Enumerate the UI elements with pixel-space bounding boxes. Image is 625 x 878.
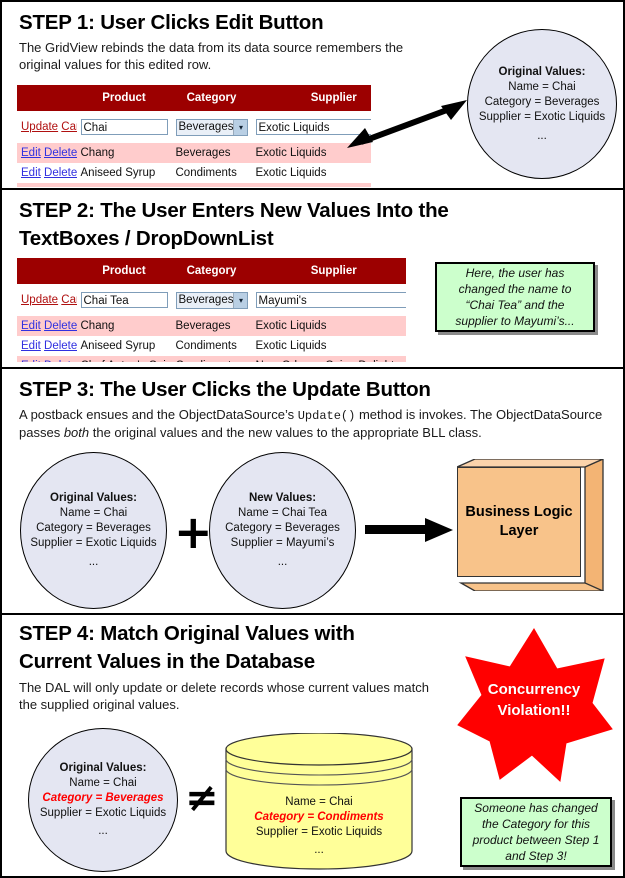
plus-symbol: + bbox=[174, 509, 213, 555]
original-values-line-3: Supplier = Exotic Liquids bbox=[479, 110, 605, 125]
original-values-line-2: Category = Beverages bbox=[479, 95, 605, 110]
step-2-panel: STEP 2: The User Enters New Values Into … bbox=[2, 190, 623, 369]
star-label: Concurrency Violation!! bbox=[454, 679, 614, 721]
row-commands[interactable]: Edit Delete bbox=[17, 163, 77, 183]
product-textbox[interactable]: Chai bbox=[81, 119, 168, 135]
diagram-page: STEP 1: User Clicks Edit Button The Grid… bbox=[0, 0, 625, 878]
step-3-new-values-ellipse: New Values: Name = Chai Tea Category = B… bbox=[209, 452, 356, 609]
update-link[interactable]: Update bbox=[21, 294, 58, 306]
database-values-text: Name = Chai Category = Condiments Suppli… bbox=[224, 795, 414, 858]
table-row[interactable]: Edit Delete Aniseed Syrup Condiments Exo… bbox=[17, 336, 407, 356]
database-cylinder: Name = Chai Category = Condiments Suppli… bbox=[224, 733, 414, 875]
step-1-gridview[interactable]: Product Category Supplier Update Cancel … bbox=[16, 84, 371, 187]
delete-link[interactable]: Delete bbox=[44, 147, 76, 159]
new-values-header: New Values: bbox=[225, 491, 340, 506]
row-supplier: New Orleans Cajun Delights bbox=[252, 356, 407, 362]
concurrency-violation-star: Concurrency Violation!! bbox=[454, 625, 614, 785]
step-3-panel: STEP 3: The User Clicks the Update Butto… bbox=[2, 369, 623, 615]
gv-header-category: Category bbox=[172, 258, 252, 285]
original-values-header: Original Values: bbox=[30, 491, 156, 506]
row-supplier: Exotic Liquids bbox=[252, 336, 407, 356]
original-values-line-2: Category = Beverages bbox=[30, 521, 156, 536]
row-commands[interactable]: Edit Delete bbox=[17, 336, 77, 356]
gridview-header-row: Product Category Supplier bbox=[17, 258, 407, 285]
step-3-title: STEP 3: The User Clicks the Update Butto… bbox=[19, 377, 431, 402]
edit-row-commands[interactable]: Update Cancel bbox=[17, 111, 77, 143]
original-values-text: Original Values: Name = Chai Category = … bbox=[30, 491, 156, 570]
step-2-title-line-1: STEP 2: The User Enters New Values Into … bbox=[19, 198, 449, 223]
bll-label: Business Logic Layer bbox=[457, 467, 581, 577]
step-3-original-values-ellipse: Original Values: Name = Chai Category = … bbox=[20, 452, 167, 609]
original-values-line-4: ... bbox=[40, 824, 166, 839]
edit-row-commands[interactable]: Update Cancel bbox=[17, 284, 77, 316]
step-4-description: The DAL will only update or delete recor… bbox=[19, 680, 444, 713]
step-2-gridview[interactable]: Product Category Supplier Update Cancel … bbox=[16, 257, 406, 362]
row-supplier: Exotic Liquids bbox=[252, 316, 407, 336]
gv-header-commands bbox=[17, 258, 77, 285]
table-row[interactable]: Edit Delete Chang Beverages Exotic Liqui… bbox=[17, 143, 372, 163]
original-values-header: Original Values: bbox=[479, 65, 605, 80]
row-product: Chang bbox=[77, 316, 172, 336]
step-2-note: Here, the user has changed the name to “… bbox=[435, 262, 595, 332]
gridview-header-row: Product Category Supplier bbox=[17, 85, 372, 112]
category-dropdown-value: Beverages bbox=[179, 119, 234, 136]
arrow-right-icon bbox=[365, 517, 455, 543]
step-1-title: STEP 1: User Clicks Edit Button bbox=[19, 10, 323, 35]
update-link[interactable]: Update bbox=[21, 121, 58, 133]
update-method-code: Update() bbox=[298, 409, 356, 423]
step-3-description: A postback ensues and the ObjectDataSour… bbox=[19, 407, 614, 441]
step-4-panel: STEP 4: Match Original Values with Curre… bbox=[2, 615, 623, 876]
edit-row-product-cell[interactable]: Chai Tea bbox=[77, 284, 172, 316]
row-product: Chang bbox=[77, 143, 172, 163]
table-row[interactable]: Edit Delete Chef Anton's Cajun Condiment… bbox=[17, 183, 372, 187]
gridview-edit-row[interactable]: Update Cancel Chai Tea Beverages ▾ Mayum… bbox=[17, 284, 407, 316]
edit-link[interactable]: Edit bbox=[21, 147, 41, 159]
category-dropdown-value: Beverages bbox=[179, 292, 234, 309]
delete-link[interactable]: Delete bbox=[44, 360, 76, 362]
original-values-line-3: Supplier = Exotic Liquids bbox=[30, 536, 156, 551]
row-commands[interactable]: Edit Delete bbox=[17, 143, 77, 163]
product-textbox[interactable]: Chai Tea bbox=[81, 292, 168, 308]
gv-header-category: Category bbox=[172, 85, 252, 112]
row-product: Aniseed Syrup bbox=[77, 336, 172, 356]
edit-row-category-cell[interactable]: Beverages ▾ bbox=[172, 284, 252, 316]
row-product: Chef Anton's Cajun bbox=[77, 356, 172, 362]
not-equal-symbol: ≠ bbox=[185, 778, 219, 818]
row-category: Beverages bbox=[172, 143, 252, 163]
edit-link[interactable]: Edit bbox=[21, 340, 41, 352]
chevron-down-icon[interactable]: ▾ bbox=[233, 120, 247, 135]
original-values-line-1: Name = Chai bbox=[30, 506, 156, 521]
supplier-textbox[interactable]: Mayumi's bbox=[256, 292, 407, 308]
business-logic-layer-box: Business Logic Layer bbox=[457, 459, 605, 591]
edit-row-supplier-cell[interactable]: Mayumi's bbox=[252, 284, 407, 316]
new-values-line-1: Name = Chai Tea bbox=[225, 506, 340, 521]
step-3-desc-emphasis: both bbox=[64, 425, 89, 440]
database-line-1: Name = Chai bbox=[224, 795, 414, 810]
step-3-desc-part-c: the original values and the new values t… bbox=[89, 425, 482, 440]
step-2-title-line-2: TextBoxes / DropDownList bbox=[19, 226, 274, 251]
delete-link[interactable]: Delete bbox=[44, 320, 76, 332]
row-supplier: New Orleans Cajun Delights bbox=[252, 183, 372, 187]
original-values-text: Original Values: Name = Chai Category = … bbox=[40, 761, 166, 839]
gv-header-commands bbox=[17, 85, 77, 112]
step-3-desc-part-a: A postback ensues and the ObjectDataSour… bbox=[19, 407, 298, 422]
row-commands[interactable]: Edit Delete bbox=[17, 183, 77, 187]
row-category: Condiments bbox=[172, 163, 252, 183]
gv-header-supplier: Supplier bbox=[252, 258, 407, 285]
original-values-category-highlight: Category = Beverages bbox=[40, 791, 166, 806]
row-commands[interactable]: Edit Delete bbox=[17, 316, 77, 336]
row-commands[interactable]: Edit Delete bbox=[17, 356, 77, 362]
table-row[interactable]: Edit Delete Aniseed Syrup Condiments Exo… bbox=[17, 163, 372, 183]
new-values-line-3: Supplier = Mayumi’s bbox=[225, 536, 340, 551]
row-supplier: Exotic Liquids bbox=[252, 163, 372, 183]
database-line-4: ... bbox=[224, 843, 414, 858]
original-values-line-3: Supplier = Exotic Liquids bbox=[40, 806, 166, 821]
star-line-1: Concurrency bbox=[454, 679, 614, 700]
row-product: Chef Anton's Cajun bbox=[77, 183, 172, 187]
gv-header-product: Product bbox=[77, 85, 172, 112]
chevron-down-icon[interactable]: ▾ bbox=[233, 293, 247, 308]
row-product: Aniseed Syrup bbox=[77, 163, 172, 183]
database-line-3: Supplier = Exotic Liquids bbox=[224, 825, 414, 840]
double-arrow-icon bbox=[345, 98, 470, 150]
row-category: Beverages bbox=[172, 316, 252, 336]
gridview-edit-row[interactable]: Update Cancel Chai Beverages ▾ Exotic Li… bbox=[17, 111, 372, 143]
table-row[interactable]: Edit Delete Chef Anton's Cajun Condiment… bbox=[17, 356, 407, 362]
row-category: Condiments bbox=[172, 336, 252, 356]
row-category: Condiments bbox=[172, 183, 252, 187]
step-1-original-values-circle: Original Values: Name = Chai Category = … bbox=[467, 29, 617, 179]
new-values-line-2: Category = Beverages bbox=[225, 521, 340, 536]
cancel-link[interactable]: Cancel bbox=[61, 121, 76, 133]
delete-link[interactable]: Delete bbox=[44, 340, 76, 352]
edit-row-category-cell[interactable]: Beverages ▾ bbox=[172, 111, 252, 143]
database-category-highlight: Category = Condiments bbox=[224, 810, 414, 825]
category-dropdown[interactable]: Beverages ▾ bbox=[176, 292, 248, 309]
edit-link[interactable]: Edit bbox=[21, 167, 41, 179]
new-values-line-4: ... bbox=[225, 555, 340, 570]
original-values-line-1: Name = Chai bbox=[40, 776, 166, 791]
step-4-note: Someone has changed the Category for thi… bbox=[460, 797, 612, 867]
delete-link[interactable]: Delete bbox=[44, 167, 76, 179]
original-values-line-4: ... bbox=[479, 129, 605, 144]
edit-row-product-cell[interactable]: Chai bbox=[77, 111, 172, 143]
category-dropdown[interactable]: Beverages ▾ bbox=[176, 119, 248, 136]
original-values-header: Original Values: bbox=[40, 761, 166, 776]
original-values-line-1: Name = Chai bbox=[479, 80, 605, 95]
table-row[interactable]: Edit Delete Chang Beverages Exotic Liqui… bbox=[17, 316, 407, 336]
edit-link[interactable]: Edit bbox=[21, 360, 41, 362]
cancel-link[interactable]: Cancel bbox=[61, 294, 76, 306]
edit-link[interactable]: Edit bbox=[21, 320, 41, 332]
star-line-2: Violation!! bbox=[454, 700, 614, 721]
row-category: Condiments bbox=[172, 356, 252, 362]
new-values-text: New Values: Name = Chai Tea Category = B… bbox=[225, 491, 340, 570]
step-1-description: The GridView rebinds the data from its d… bbox=[19, 40, 409, 73]
step-1-panel: STEP 1: User Clicks Edit Button The Grid… bbox=[2, 2, 623, 190]
step-4-title-line-1: STEP 4: Match Original Values with bbox=[19, 621, 355, 646]
gv-header-product: Product bbox=[77, 258, 172, 285]
step-4-title-line-2: Current Values in the Database bbox=[19, 649, 315, 674]
step-4-original-values-circle: Original Values: Name = Chai Category = … bbox=[28, 728, 178, 872]
original-values-text: Original Values: Name = Chai Category = … bbox=[479, 65, 605, 144]
original-values-line-4: ... bbox=[30, 555, 156, 570]
